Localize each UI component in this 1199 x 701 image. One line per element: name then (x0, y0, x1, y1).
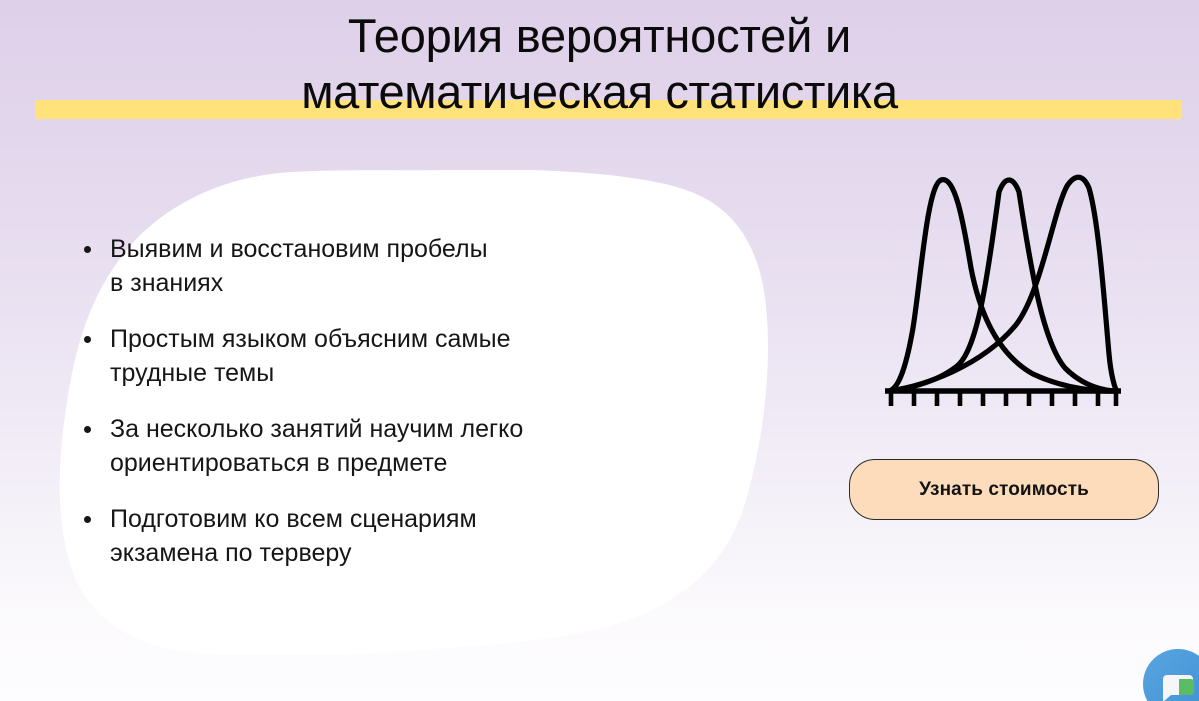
bullet-dot-icon (84, 516, 91, 523)
title-line-1: Теория вероятностей и (0, 8, 1199, 64)
list-item: Простым языком объясним самые трудные те… (78, 322, 718, 390)
bullet-dot-icon (84, 426, 91, 433)
list-item: Подготовим ко всем сценариям экзамена по… (78, 502, 718, 570)
promo-slide: Теория вероятностей и математическая ста… (0, 0, 1199, 701)
page-title: Теория вероятностей и математическая ста… (0, 8, 1199, 120)
benefits-list: Выявим и восстановим пробелы в знаниях П… (78, 232, 718, 570)
list-item-label: Простым языком объясним самые трудные те… (110, 322, 718, 390)
list-item-label: Выявим и восстановим пробелы в знаниях (110, 232, 718, 300)
list-item-label: Подготовим ко всем сценариям экзамена по… (110, 502, 718, 570)
normal-distribution-curves-icon (875, 160, 1130, 415)
list-item: Выявим и восстановим пробелы в знаниях (78, 232, 718, 300)
chat-widget-button[interactable] (1143, 649, 1199, 701)
list-item: За несколько занятий научим легко ориент… (78, 412, 718, 480)
bullet-dot-icon (84, 246, 91, 253)
learn-price-button[interactable]: Узнать стоимость (849, 459, 1159, 520)
bullet-dot-icon (84, 336, 91, 343)
title-line-2: математическая статистика (0, 64, 1199, 120)
list-item-label: За несколько занятий научим легко ориент… (110, 412, 718, 480)
chat-bubble-icon (1157, 665, 1199, 701)
